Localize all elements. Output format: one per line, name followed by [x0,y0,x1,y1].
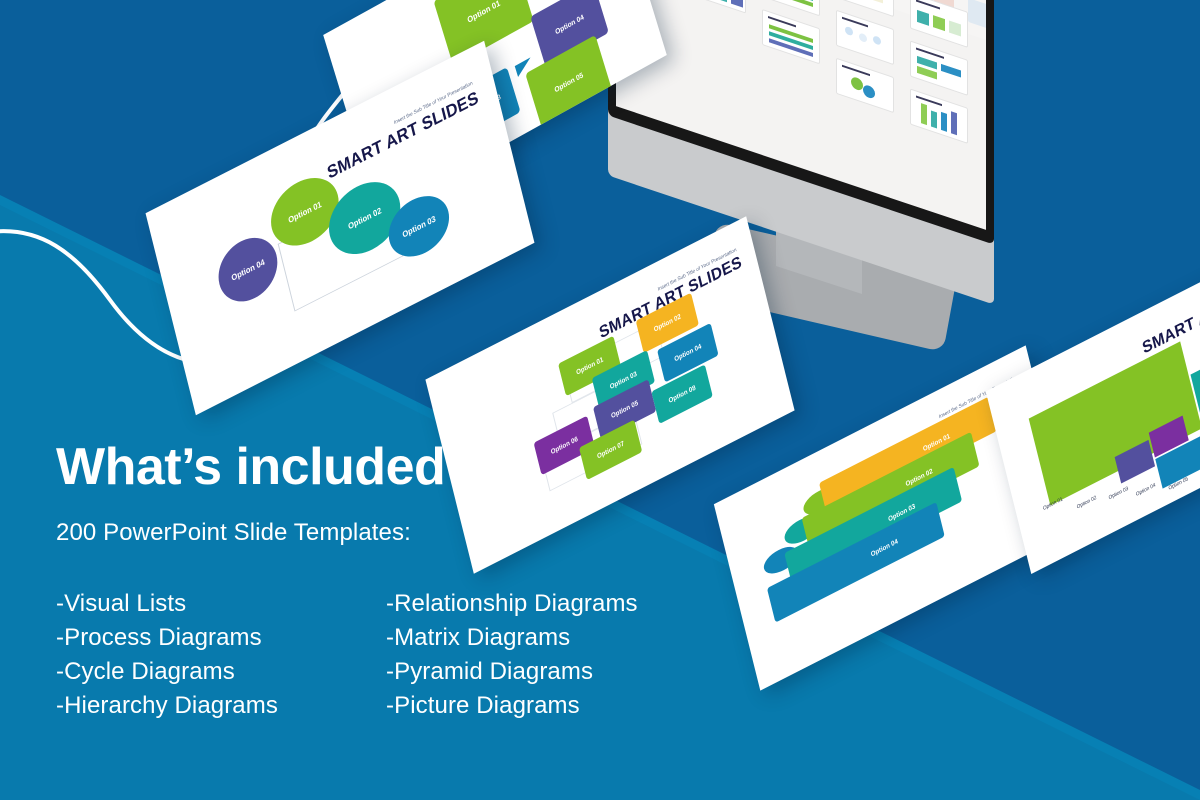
list-item: -Hierarchy Diagrams [56,689,386,723]
matrix-label: Option 02 [1077,496,1098,511]
feature-list-right: -Relationship Diagrams -Matrix Diagrams … [386,587,716,723]
slide-thumbnail[interactable] [910,0,968,48]
poster-canvas: SMART ART SLIDES Insert the Sub Title of… [0,0,1200,800]
list-item: -Pyramid Diagrams [386,655,716,689]
slide-thumbnail[interactable] [910,40,968,95]
subheadline: 200 PowerPoint Slide Templates: [56,519,756,547]
list-item: -Process Diagrams [56,621,386,655]
matrix-label: Option 01 [1043,497,1064,512]
slide-thumbnail[interactable] [836,10,894,65]
feature-lists: -Visual Lists -Process Diagrams -Cycle D… [56,587,756,723]
copy-block: What’s included? 200 PowerPoint Slide Te… [56,440,756,723]
relationship-node[interactable]: Option 04 [212,227,283,313]
relationship-connector [278,244,296,311]
relationship-connector [294,255,403,311]
page-title: What’s included? [56,440,756,495]
slide-thumbnail[interactable] [910,88,968,143]
slide-thumbnail[interactable] [836,58,894,113]
matrix-label: Option 04 [1136,483,1157,498]
matrix-label: Option 03 [1108,487,1129,502]
list-item: -Visual Lists [56,587,386,621]
list-item: -Relationship Diagrams [386,587,716,621]
feature-list-left: -Visual Lists -Process Diagrams -Cycle D… [56,587,386,723]
list-item: -Picture Diagrams [386,689,716,723]
slide-thumbnail[interactable] [762,9,820,64]
list-item: -Cycle Diagrams [56,655,386,689]
list-item: -Matrix Diagrams [386,621,716,655]
slide-thumbnail[interactable] [688,0,746,14]
